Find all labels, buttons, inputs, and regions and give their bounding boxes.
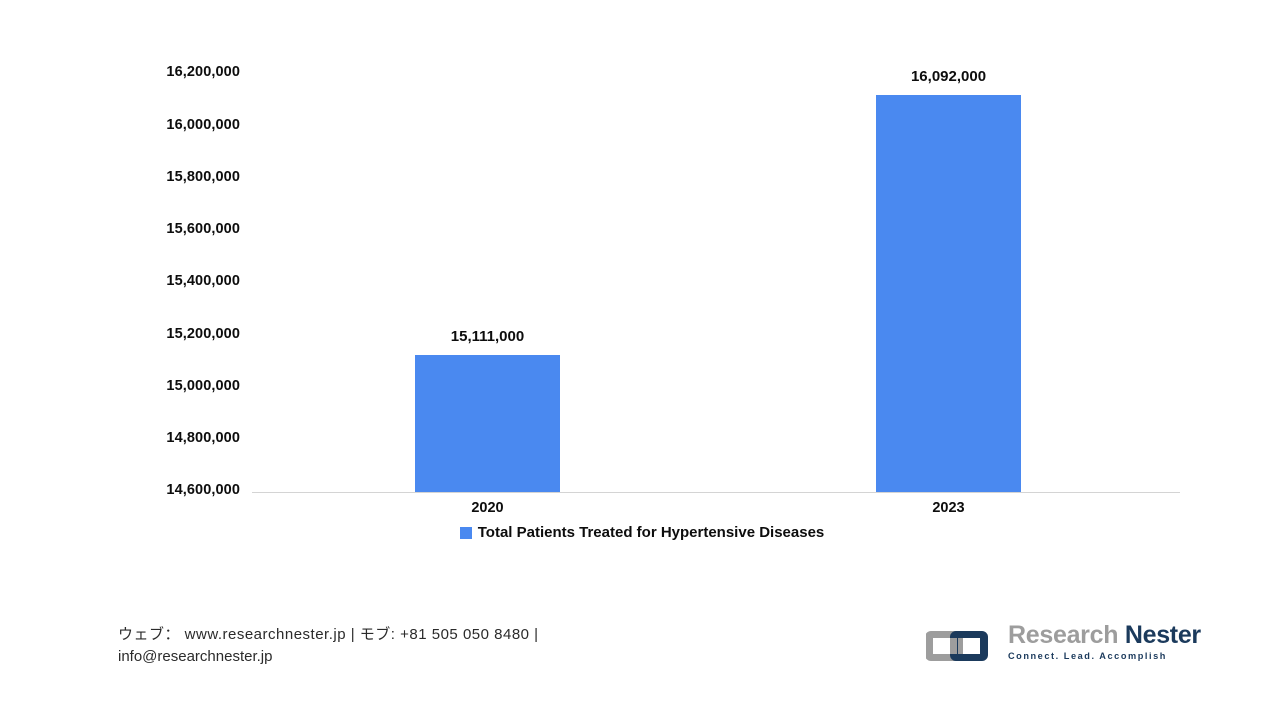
legend-item[interactable]: Total Patients Treated for Hypertensive … (456, 524, 825, 541)
y-axis-tick-label: 15,200,000 (110, 326, 240, 342)
y-axis-tick-label: 15,800,000 (110, 169, 240, 185)
footer: ウェブ： www.researchnester.jp | モブ: +81 505… (0, 608, 1280, 688)
y-axis-tick-label: 15,400,000 (110, 273, 240, 289)
y-axis-tick-label: 14,600,000 (110, 482, 240, 498)
contact-line-1: ウェブ： www.researchnester.jp | モブ: +81 505… (118, 624, 588, 646)
y-axis-tick-label: 15,000,000 (110, 378, 240, 394)
y-axis-tick-label: 15,600,000 (110, 221, 240, 237)
logo-title: Research Nester (1008, 622, 1180, 649)
contact-info: ウェブ： www.researchnester.jp | モブ: +81 505… (118, 624, 588, 668)
chart-legend: Total Patients Treated for Hypertensive … (0, 524, 1280, 541)
y-axis-tick-label: 16,200,000 (110, 64, 240, 80)
logo-word-nester: Nester (1125, 621, 1201, 649)
logo-tagline: Connect. Lead. Accomplish (1008, 651, 1180, 661)
logo-word-research: Research (1008, 621, 1118, 649)
bar-2020[interactable] (415, 355, 560, 492)
y-axis-tick-label: 14,800,000 (110, 430, 240, 446)
bar-chart: 16,200,000 16,000,000 15,800,000 15,600,… (0, 0, 1280, 560)
y-axis-tick-label: 16,000,000 (110, 117, 240, 133)
x-axis-line (252, 492, 1180, 493)
category-label-2020: 2020 (415, 500, 560, 516)
logo-text: Research Nester Connect. Lead. Accomplis… (1008, 622, 1180, 661)
bar-value-label: 16,092,000 (911, 68, 986, 85)
x-axis-category-labels: 2020 2023 (252, 500, 1180, 526)
plot-area: 15,111,000 16,092,000 (252, 40, 1180, 492)
chart-page: 16,200,000 16,000,000 15,800,000 15,600,… (0, 0, 1280, 720)
bar-2023[interactable] (876, 95, 1021, 492)
interlocking-links-icon (926, 626, 998, 666)
research-nester-logo: Research Nester Connect. Lead. Accomplis… (926, 620, 1180, 672)
category-label-2023: 2023 (876, 500, 1021, 516)
y-axis-tick-labels: 16,200,000 16,000,000 15,800,000 15,600,… (110, 56, 240, 492)
contact-line-2: info@researchnester.jp (118, 646, 588, 668)
legend-swatch-icon (460, 527, 472, 539)
bar-value-label: 15,111,000 (451, 328, 524, 345)
legend-item-label: Total Patients Treated for Hypertensive … (478, 524, 825, 541)
